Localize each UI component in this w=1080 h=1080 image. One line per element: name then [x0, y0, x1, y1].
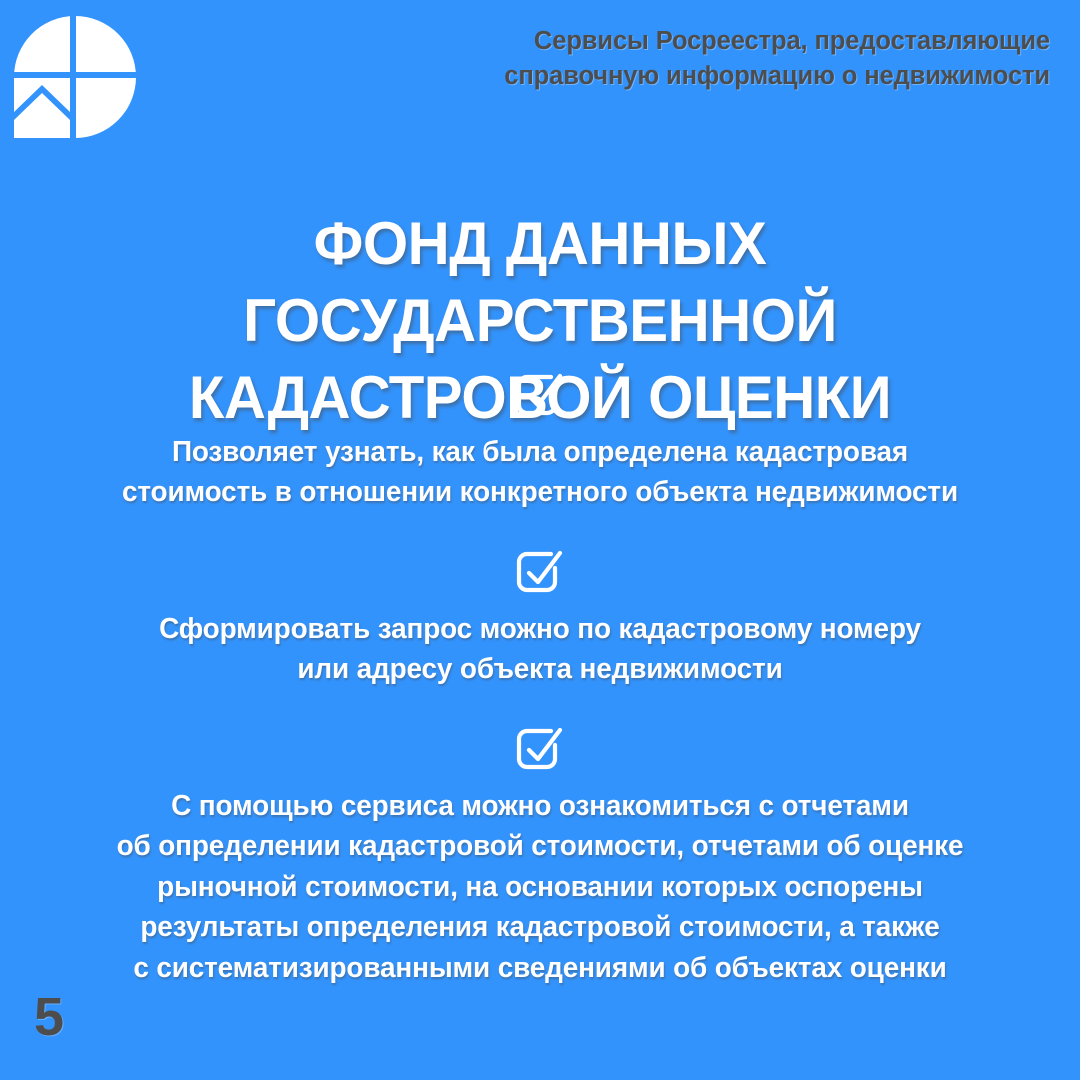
feature-list: Позволяет узнать, как была определена ка… [0, 372, 1080, 988]
page-number: 5 [34, 990, 64, 1044]
feature-text: Позволяет узнать, как была определена ка… [11, 432, 1069, 513]
feature-line: С помощью сервиса можно ознакомиться с о… [36, 786, 1043, 826]
feature-line: рыночной стоимости, на основании которых… [36, 867, 1043, 907]
feature-text: Сформировать запрос можно по кадастровом… [11, 609, 1069, 690]
poster-slide: Сервисы Росреестра, предоставляющие спра… [0, 0, 1080, 1080]
feature-line: результаты определения кадастровой стоим… [36, 907, 1043, 947]
feature-line: об определении кадастровой стоимости, от… [36, 826, 1043, 866]
feature-item: Позволяет узнать, как была определена ка… [0, 372, 1080, 513]
checkbox-checked-icon [515, 549, 565, 595]
feature-line: с систематизированными сведениями об объ… [36, 948, 1043, 988]
feature-text: С помощью сервиса можно ознакомиться с о… [11, 786, 1069, 988]
poster-header: Сервисы Росреестра, предоставляющие спра… [0, 0, 1080, 160]
checkbox-checked-icon [515, 372, 565, 418]
checkbox-checked-icon [515, 726, 565, 772]
feature-line: или адресу объекта недвижимости [36, 649, 1043, 689]
feature-item: С помощью сервиса можно ознакомиться с о… [0, 726, 1080, 988]
feature-item: Сформировать запрос можно по кадастровом… [0, 549, 1080, 690]
feature-line: Сформировать запрос можно по кадастровом… [36, 609, 1043, 649]
feature-line: Позволяет узнать, как была определена ка… [36, 432, 1043, 472]
header-subtitle: Сервисы Росреестра, предоставляющие спра… [430, 24, 1050, 93]
rosreestr-logo-icon [14, 16, 136, 138]
feature-line: стоимость в отношении конкретного объект… [36, 472, 1043, 512]
